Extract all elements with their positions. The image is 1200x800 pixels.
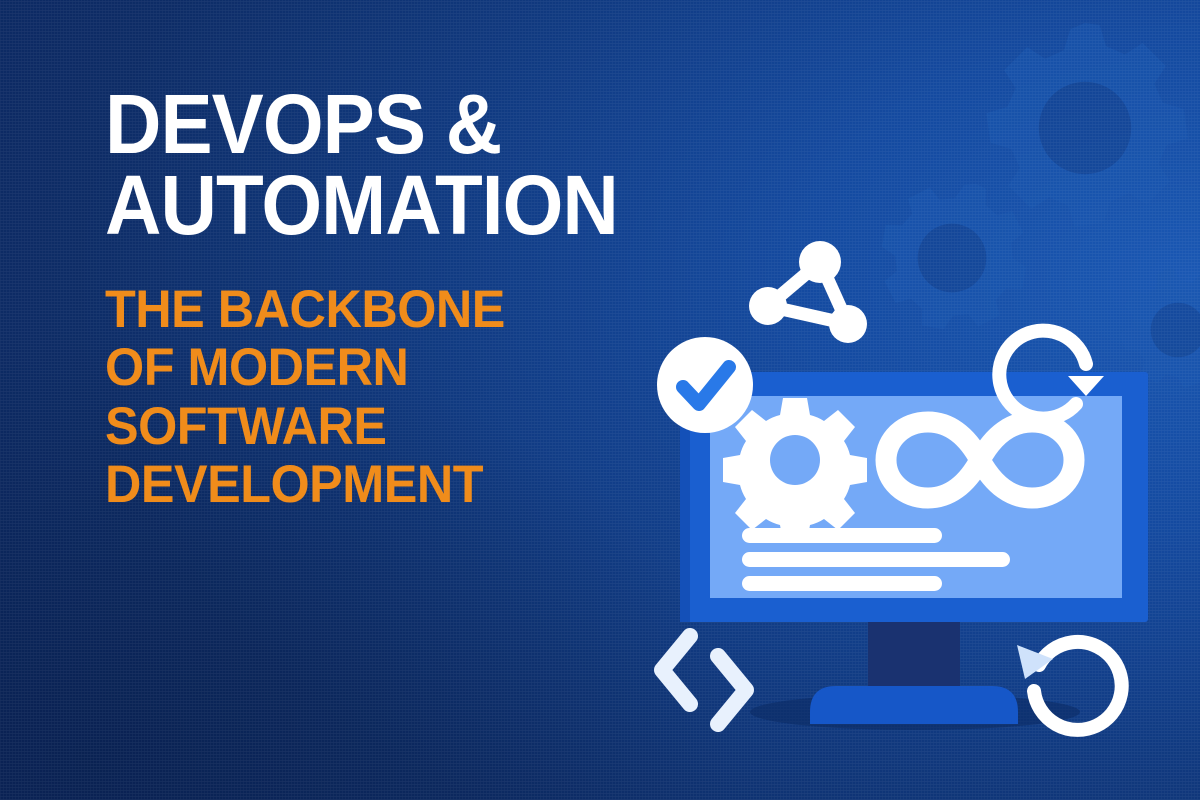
monitor-stand-base	[810, 686, 1018, 724]
devops-banner: DEVOPS & AUTOMATION THE BACKBONE OF MODE…	[0, 0, 1200, 800]
page-title: DEVOPS & AUTOMATION	[105, 84, 700, 247]
screen-text-line	[742, 528, 942, 543]
network-nodes-icon	[749, 241, 867, 343]
check-circle-icon	[657, 337, 753, 433]
gear-icon	[723, 398, 867, 542]
devops-illustration	[620, 200, 1180, 780]
monitor-stand-neck	[868, 615, 960, 693]
code-brackets-icon	[662, 636, 746, 724]
screen-text-line	[742, 576, 942, 591]
screen-text-line	[742, 552, 1010, 567]
